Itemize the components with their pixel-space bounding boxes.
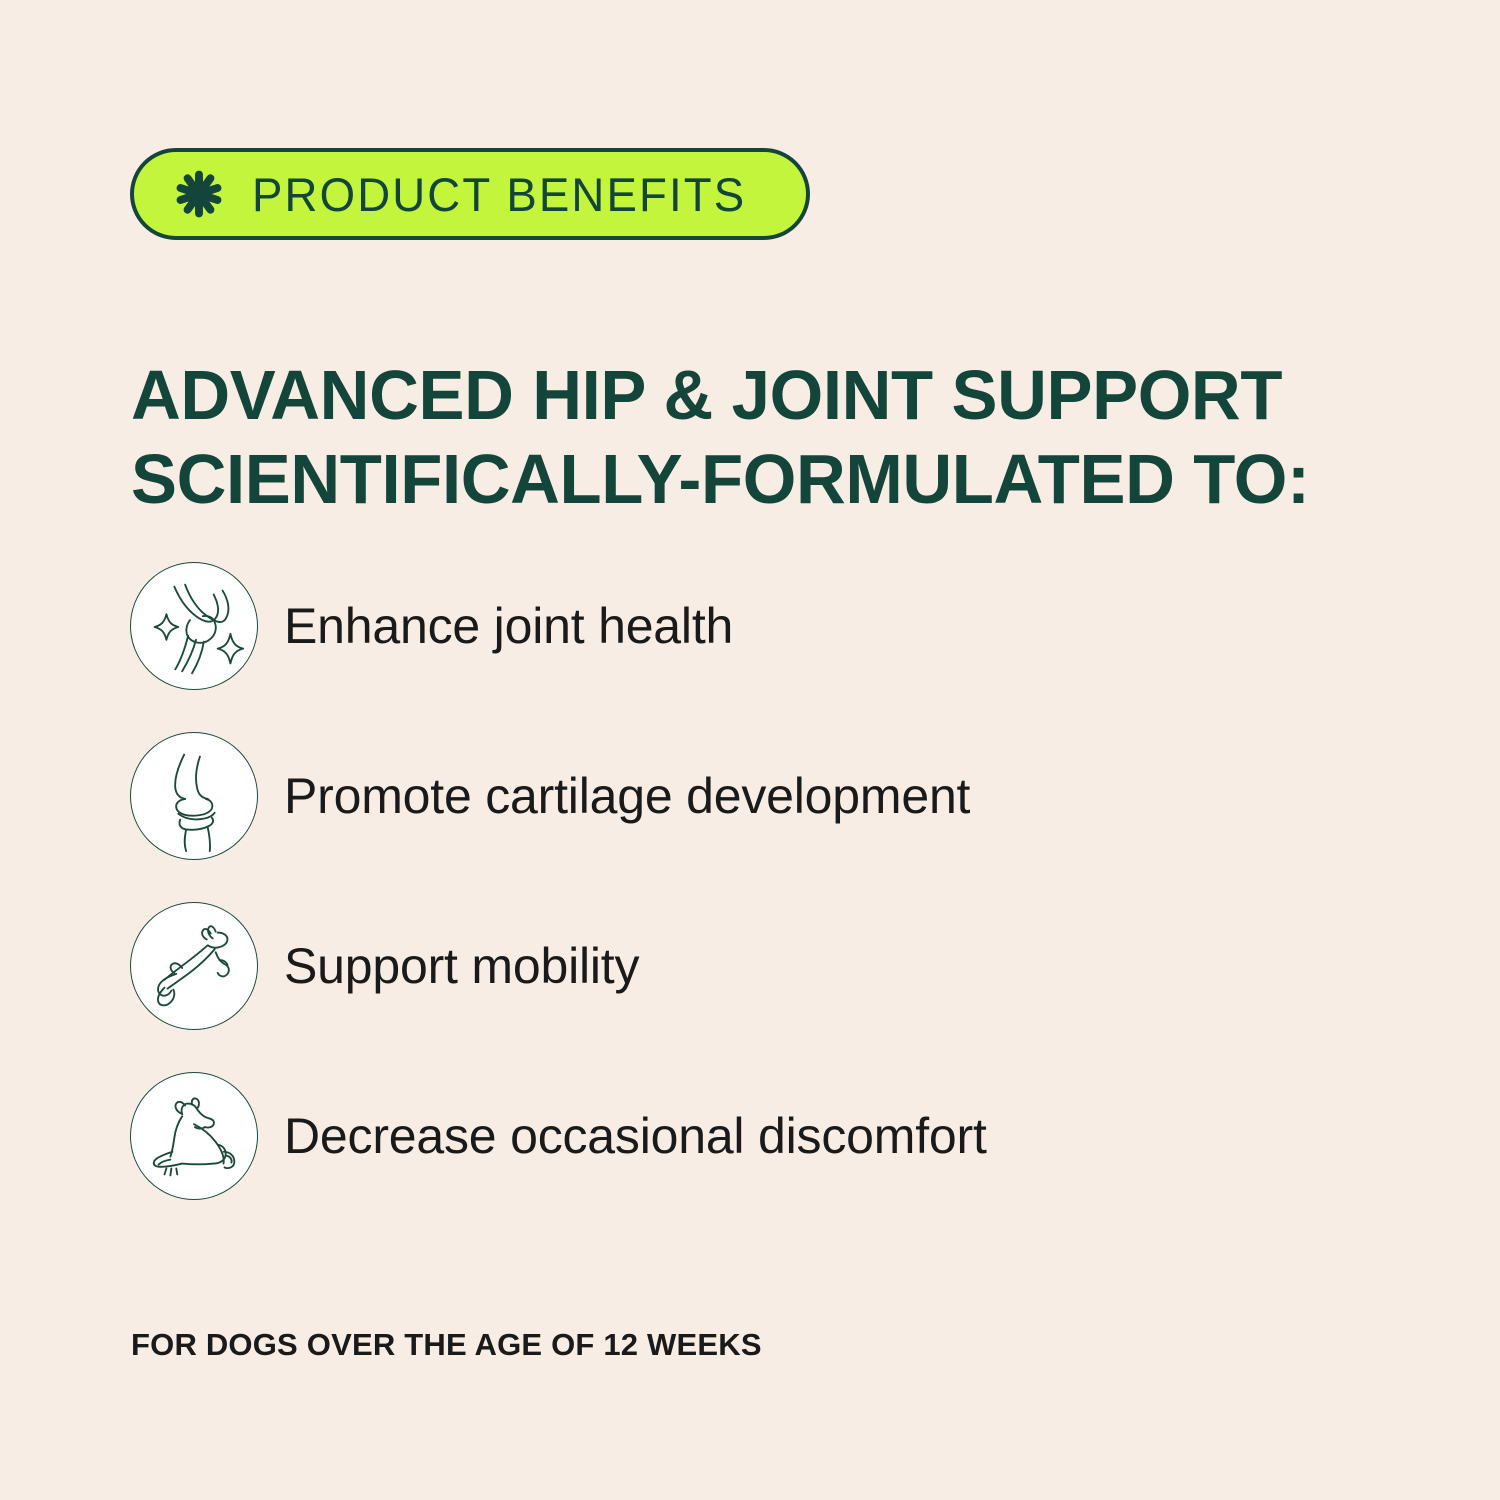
- benefit-label: Enhance joint health: [284, 599, 733, 654]
- knee-joint-icon: [130, 732, 258, 860]
- benefit-label: Support mobility: [284, 939, 639, 994]
- benefits-list: Enhance joint health: [130, 562, 1380, 1242]
- benefit-item-enhance-joint-health: Enhance joint health: [130, 562, 1380, 690]
- badge-label: PRODUCT BENEFITS: [252, 171, 746, 218]
- benefit-label: Promote cartilage development: [284, 769, 970, 824]
- benefit-label: Decrease occasional discomfort: [284, 1109, 987, 1164]
- product-benefits-badge: PRODUCT BENEFITS: [130, 148, 810, 240]
- product-benefits-graphic: PRODUCT BENEFITS ADVANCED HIP & JOINT SU…: [0, 0, 1500, 1500]
- resting-dog-icon: [130, 1072, 258, 1200]
- headline-line-1: ADVANCED HIP & JOINT SUPPORT: [131, 353, 1402, 437]
- asterisk-icon: [172, 167, 226, 221]
- benefit-item-support-mobility: Support mobility: [130, 902, 1380, 1030]
- benefit-item-promote-cartilage-development: Promote cartilage development: [130, 732, 1380, 860]
- headline-line-2: SCIENTIFICALLY-FORMULATED TO:: [131, 437, 1402, 521]
- age-requirement-note: FOR DOGS OVER THE AGE OF 12 WEEKS: [131, 1327, 762, 1363]
- benefit-item-decrease-occasional-discomfort: Decrease occasional discomfort: [130, 1072, 1380, 1200]
- leaping-dog-icon: [130, 902, 258, 1030]
- joint-sparkle-icon: [130, 562, 258, 690]
- page-title: ADVANCED HIP & JOINT SUPPORT SCIENTIFICA…: [131, 353, 1421, 521]
